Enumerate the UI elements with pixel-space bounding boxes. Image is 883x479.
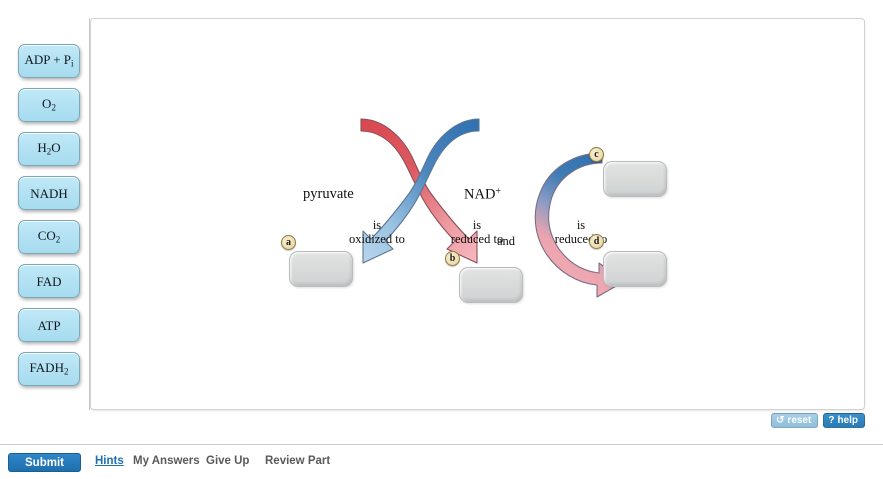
palette-tile-label: H2O	[37, 141, 60, 156]
answer-bank-palette: ADP + Pi O2 H2O NADH CO2 FAD ATP FADH2	[18, 44, 84, 396]
review-part-link[interactable]: Review Part	[265, 455, 330, 467]
submit-button[interactable]: Submit	[8, 453, 81, 472]
palette-tile-o2[interactable]: O2	[18, 88, 80, 122]
redox-diagram: pyruvate NAD+ is oxidized to is reduced …	[91, 19, 865, 410]
palette-tile-co2[interactable]: CO2	[18, 220, 80, 254]
marker-c: c	[589, 147, 604, 162]
dropbox-c[interactable]	[603, 161, 667, 197]
palette-tile-atp[interactable]: ATP	[18, 308, 80, 342]
question-icon: ?	[828, 416, 834, 426]
dropbox-d[interactable]	[603, 251, 667, 287]
arrow-layer	[91, 19, 865, 410]
palette-tile-label: ADP + Pi	[24, 53, 73, 68]
canvas-tools: ↺ reset ? help	[771, 413, 865, 428]
marker-b: b	[445, 251, 460, 266]
label-pyruvate: pyruvate	[303, 186, 354, 202]
palette-tile-label: NADH	[30, 187, 68, 200]
reset-button[interactable]: ↺ reset	[771, 413, 818, 428]
palette-tile-label: FAD	[36, 275, 61, 288]
palette-tile-label: FADH2	[30, 361, 69, 376]
dropbox-a[interactable]	[289, 251, 353, 287]
exercise-window: ADP + Pi O2 H2O NADH CO2 FAD ATP FADH2	[0, 0, 883, 478]
diagram-canvas: pyruvate NAD+ is oxidized to is reduced …	[90, 18, 865, 410]
label-is-reduced-to-right: is reduced to	[546, 218, 616, 246]
bottom-action-bar: Submit Hints My Answers Give Up Review P…	[0, 444, 883, 479]
palette-tile-label: ATP	[37, 319, 60, 332]
palette-tile-adp-pi[interactable]: ADP + Pi	[18, 44, 80, 78]
reset-button-label: reset	[787, 416, 811, 426]
palette-tile-label: O2	[42, 97, 56, 112]
my-answers-link[interactable]: My Answers	[133, 455, 200, 467]
label-is-oxidized-to: is oxidized to	[342, 218, 412, 246]
label-and: and	[497, 234, 515, 248]
give-up-link[interactable]: Give Up	[206, 455, 249, 467]
label-nad-plus: NAD+	[464, 186, 501, 203]
marker-d: d	[589, 234, 604, 249]
marker-a: a	[281, 235, 296, 250]
help-button[interactable]: ? help	[823, 413, 865, 428]
reset-icon: ↺	[776, 416, 784, 426]
palette-tile-nadh[interactable]: NADH	[18, 176, 80, 210]
hints-link[interactable]: Hints	[95, 455, 124, 467]
palette-tile-fadh2[interactable]: FADH2	[18, 352, 80, 386]
palette-tile-label: CO2	[38, 229, 61, 244]
help-button-label: help	[837, 416, 858, 426]
palette-tile-fad[interactable]: FAD	[18, 264, 80, 298]
palette-tile-h2o[interactable]: H2O	[18, 132, 80, 166]
dropbox-b[interactable]	[459, 267, 523, 303]
